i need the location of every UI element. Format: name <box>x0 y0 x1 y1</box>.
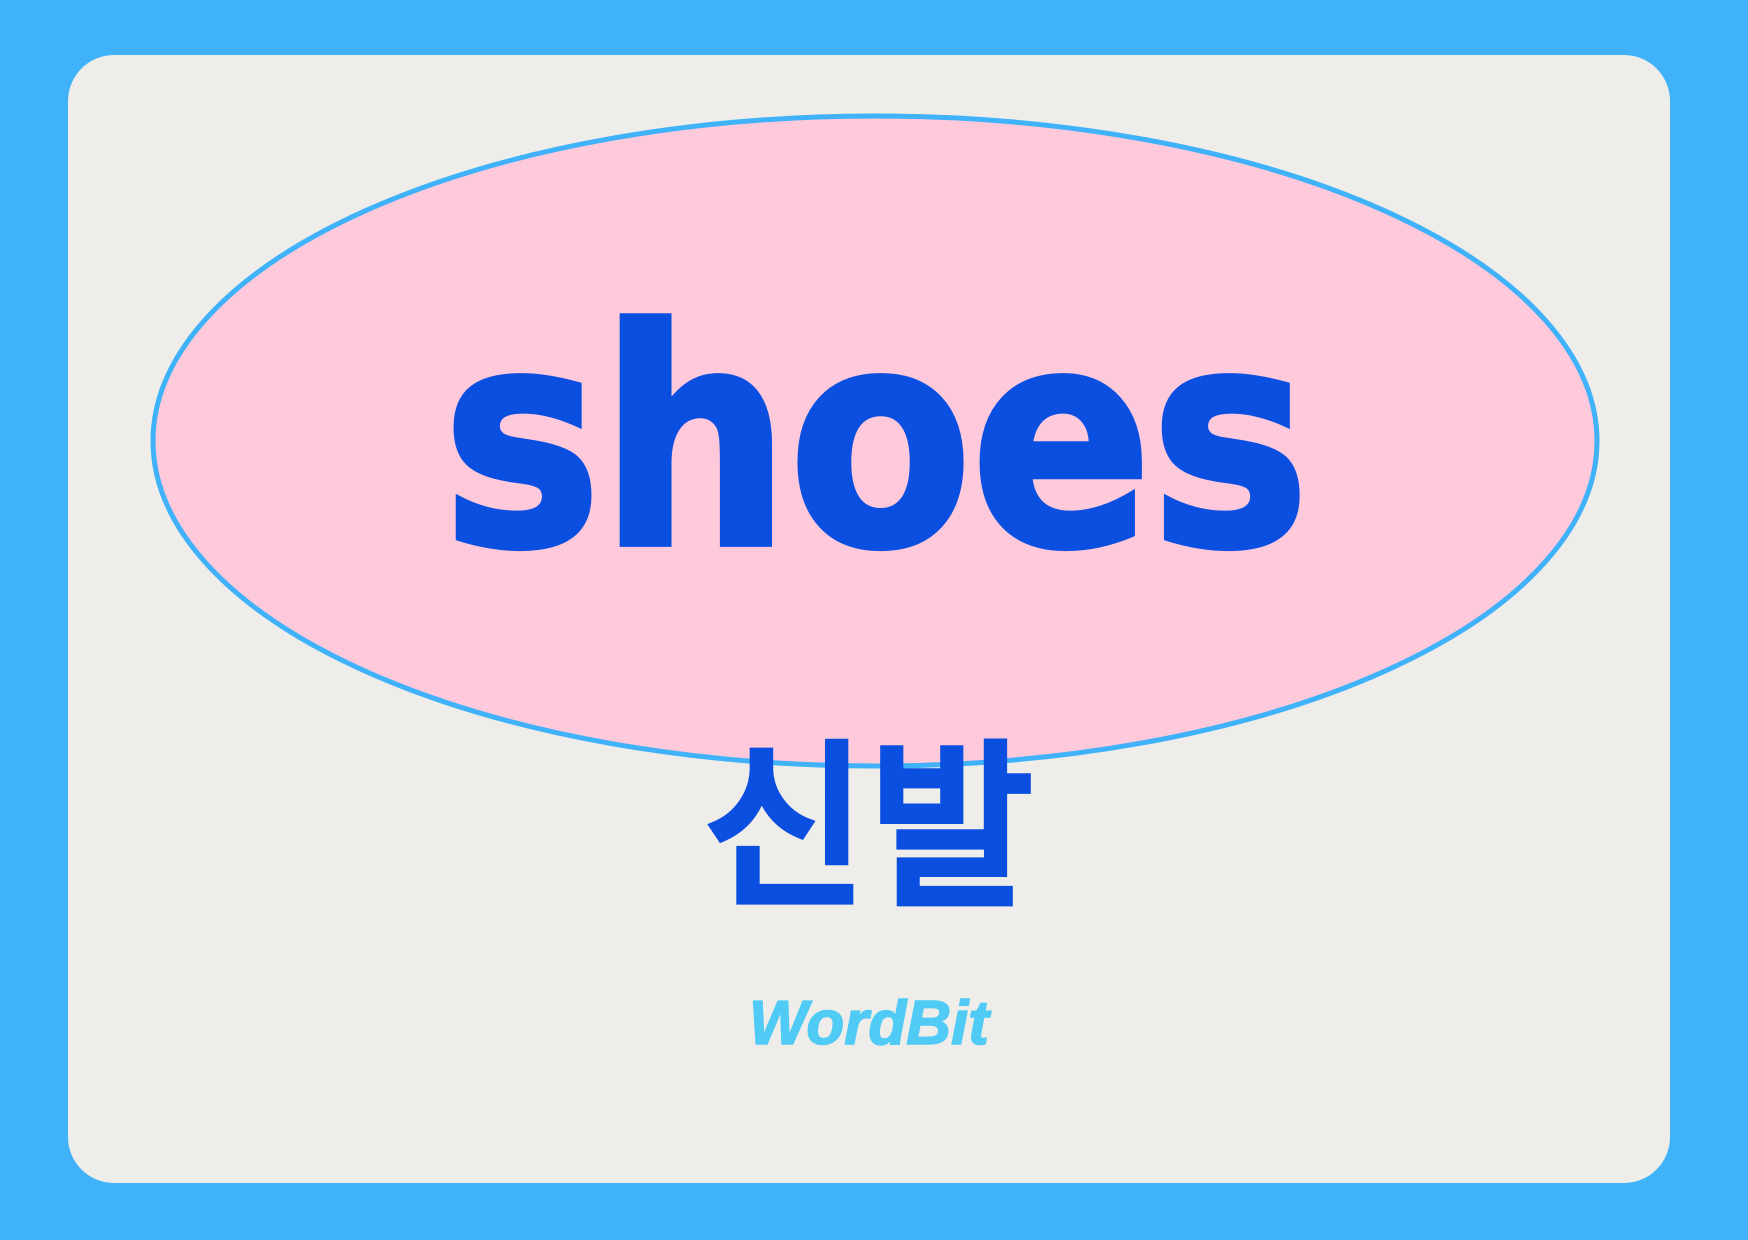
flashcard-root: shoes 신발 WordBit <box>0 0 1748 1240</box>
wordbit-brand-logo: WordBit <box>68 993 1670 1055</box>
word-highlight-ellipse: shoes <box>150 113 1600 769</box>
flashcard-card: shoes 신발 WordBit <box>68 55 1670 1183</box>
vocabulary-term-korean: 신발 <box>68 727 1670 932</box>
vocabulary-term-english: shoes <box>150 74 1600 809</box>
